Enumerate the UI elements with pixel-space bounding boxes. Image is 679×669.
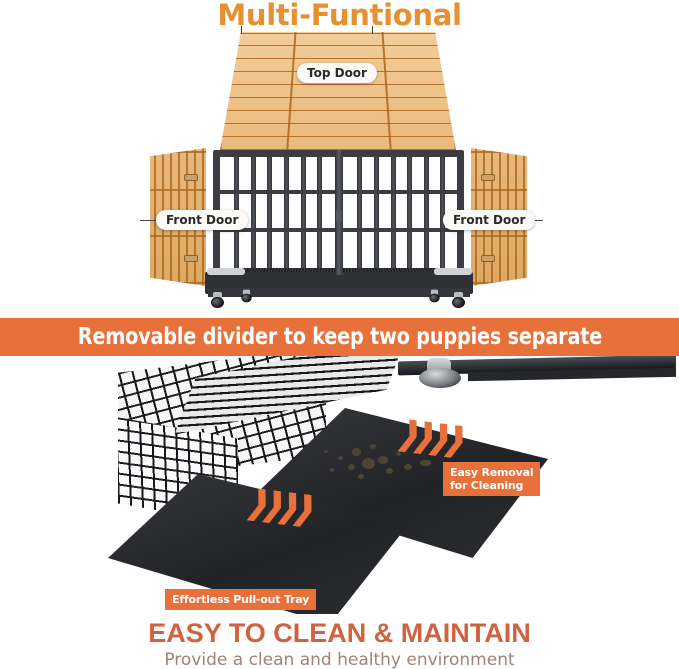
front-door-left-latch-lower[interactable] <box>184 255 198 262</box>
page-title: Multi-Funtional <box>0 0 679 32</box>
caster-wheel-front-right <box>452 292 465 308</box>
top-door-hline <box>218 84 458 85</box>
top-door-hline <box>218 33 458 34</box>
chevron-arrows-upper <box>398 419 469 458</box>
foot-pad-left <box>207 268 245 275</box>
caster-wheel-photo <box>415 358 465 388</box>
top-door-hline <box>218 123 458 124</box>
top-door-hinge <box>372 26 373 34</box>
cage-body <box>213 150 464 275</box>
footer-heading: EASY TO CLEAN & MAINTAIN <box>0 618 679 649</box>
divider-latch-knob[interactable] <box>336 210 342 222</box>
footer-section: EASY TO CLEAN & MAINTAIN Provide a clean… <box>0 612 679 669</box>
top-door-panel <box>218 32 458 162</box>
label-easy-removal-line2: for Cleaning <box>450 479 533 492</box>
top-illustration-section: Multi-Funtional <box>0 0 679 318</box>
feature-banner: Removable divider to keep two puppies se… <box>0 318 679 356</box>
front-door-right-latch-lower[interactable] <box>481 255 495 262</box>
callout-front-door-right: Front Door <box>443 210 535 230</box>
footer-subtitle: Provide a clean and healthy environment <box>0 650 679 669</box>
bottom-photo-section <box>0 356 679 614</box>
caster-wheel-back-right <box>429 290 439 303</box>
front-door-left-latch[interactable] <box>184 174 198 181</box>
top-door-hline <box>218 110 458 111</box>
callout-top-door: Top Door <box>297 63 377 83</box>
caster-wheel-front-left <box>211 292 224 308</box>
label-pullout-tray: Effortless Pull-out Tray <box>165 589 316 610</box>
top-door-hline <box>218 136 458 137</box>
label-easy-removal-line1: Easy Removal <box>450 466 533 479</box>
banner-text: Removable divider to keep two puppies se… <box>77 324 601 350</box>
top-door-hline <box>218 58 458 59</box>
caster-wheel-back-left <box>241 290 251 303</box>
foot-pad-right <box>434 268 472 275</box>
top-door-hline <box>218 45 458 46</box>
top-door-hinge <box>241 26 242 34</box>
chevron-arrows-lower <box>247 488 318 527</box>
product-infographic: Multi-Funtional <box>0 0 679 669</box>
label-easy-removal: Easy Removal for Cleaning <box>443 462 540 496</box>
front-door-right-latch[interactable] <box>481 174 495 181</box>
callout-front-door-left: Front Door <box>156 210 248 230</box>
top-door-hline <box>218 97 458 98</box>
